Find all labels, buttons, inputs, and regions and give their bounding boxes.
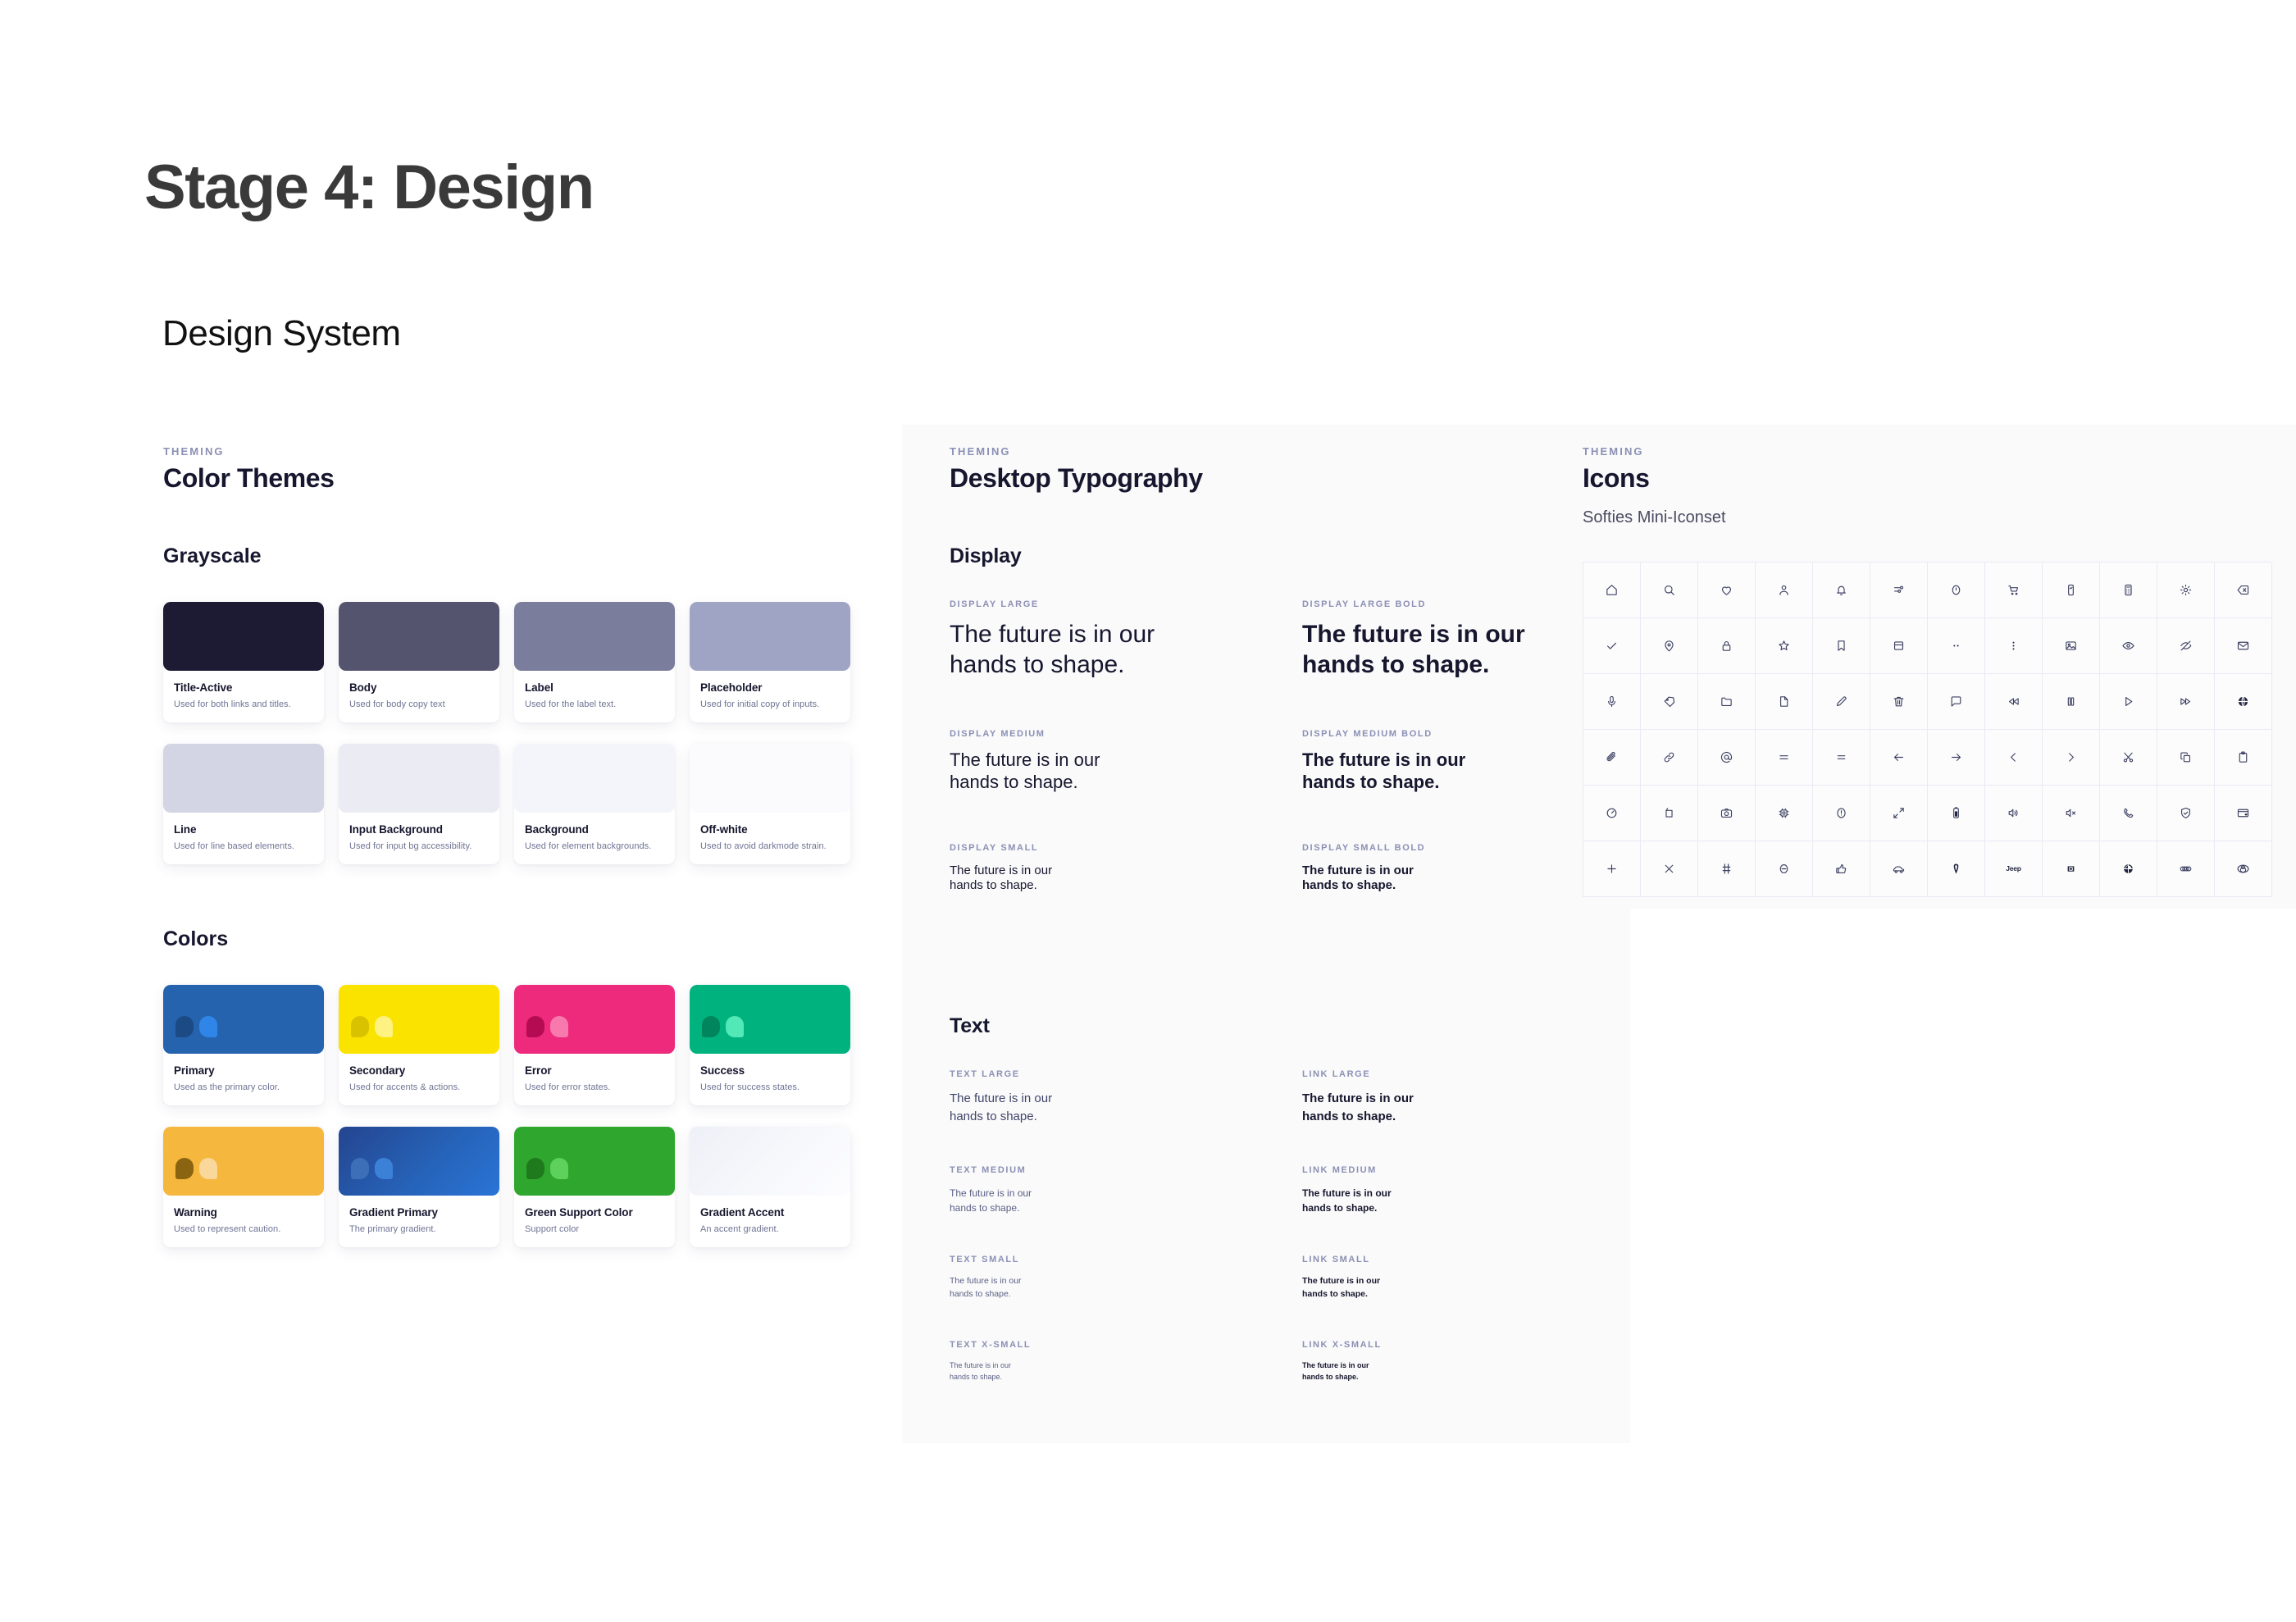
minus-circle-icon[interactable]	[1756, 841, 1813, 897]
chip-icon[interactable]	[1756, 786, 1813, 841]
clipboard-icon[interactable]	[2215, 730, 2272, 786]
swatch-description: Used for initial copy of inputs.	[700, 699, 840, 709]
color-theme-groups: GrayscaleTitle-ActiveUsed for both links…	[163, 544, 877, 1247]
fast-forward-icon[interactable]	[2157, 674, 2215, 730]
typography-spec-label: DISPLAY SMALL	[950, 843, 1302, 853]
bmw-logo-icon[interactable]	[2100, 841, 2157, 897]
color-swatch-card[interactable]: Gradient PrimaryThe primary gradient.	[339, 1127, 499, 1247]
swatch-name: Gradient Accent	[700, 1206, 840, 1219]
swatch-description: Used for both links and titles.	[174, 699, 313, 709]
color-group-label: Grayscale	[163, 544, 877, 568]
color-swatch-card[interactable]: PlaceholderUsed for initial copy of inpu…	[690, 602, 850, 722]
swatch-description: Used for element backgrounds.	[525, 841, 664, 851]
swatch-decoration	[526, 1016, 568, 1037]
color-swatch-chip	[339, 602, 499, 671]
drawer-icon[interactable]	[1870, 618, 1928, 674]
chat-icon[interactable]	[1928, 674, 1985, 730]
swatch-name: Placeholder	[700, 681, 840, 694]
pencil-icon[interactable]	[1813, 674, 1870, 730]
typography-sample-text: The future is in our hands to shape.	[950, 749, 1302, 794]
at-sign-icon[interactable]	[1698, 730, 1756, 786]
thumbs-up-icon[interactable]	[1813, 841, 1870, 897]
color-swatch-chip	[163, 1127, 324, 1196]
typography-specimen: DISPLAY MEDIUMThe future is in our hands…	[950, 729, 1302, 794]
typography-group-heading: Text	[950, 1014, 1606, 1038]
color-swatch-chip	[339, 985, 499, 1054]
color-swatch-chip	[690, 602, 850, 671]
icons-eyebrow: THEMING	[1583, 445, 2296, 458]
swatch-decoration	[351, 1158, 393, 1179]
calculator-icon[interactable]	[2100, 563, 2157, 618]
swatch-description: Used to avoid darkmode strain.	[700, 841, 840, 851]
typography-spec-label: TEXT LARGE	[950, 1069, 1302, 1079]
swatch-meta: WarningUsed to represent caution.	[163, 1196, 324, 1247]
menu-icon[interactable]	[1756, 730, 1813, 786]
swatch-name: Error	[525, 1064, 664, 1077]
typography-sample-text: The future is in our hands to shape.	[950, 1360, 1302, 1383]
swatch-meta: Input BackgroundUsed for input bg access…	[339, 813, 499, 864]
page-title: Stage 4: Design	[144, 152, 594, 223]
color-themes-eyebrow: THEMING	[163, 445, 877, 458]
card-icon[interactable]	[2215, 786, 2272, 841]
phone-device-icon[interactable]	[2043, 563, 2100, 618]
swatch-decoration	[351, 1016, 393, 1037]
lock-icon[interactable]	[1698, 618, 1756, 674]
swatch-name: Warning	[174, 1206, 313, 1219]
close-icon[interactable]	[1641, 841, 1698, 897]
battery-icon[interactable]	[1928, 786, 1985, 841]
typography-group-heading: Display	[950, 544, 1606, 568]
swatch-meta: SecondaryUsed for accents & actions.	[339, 1054, 499, 1105]
color-themes-section: THEMING Color Themes GrayscaleTitle-Acti…	[163, 445, 877, 1247]
play-icon[interactable]	[2100, 674, 2157, 730]
swatch-description: Used for success states.	[700, 1082, 840, 1092]
backspace-icon[interactable]	[2215, 563, 2272, 618]
eye-off-icon[interactable]	[2157, 618, 2215, 674]
typography-spec-label: LINK X-SMALL	[1302, 1340, 1606, 1350]
color-swatch-card[interactable]: LabelUsed for the label text.	[514, 602, 675, 722]
paperclip-icon[interactable]	[1583, 730, 1641, 786]
folder-icon[interactable]	[1698, 674, 1756, 730]
color-swatch-chip	[514, 602, 675, 671]
swatch-name: Line	[174, 823, 313, 836]
bell-icon[interactable]	[1813, 563, 1870, 618]
typography-specimen: LINK SMALLThe future is in our hands to …	[1302, 1255, 1606, 1301]
user-icon[interactable]	[1756, 563, 1813, 618]
typography-sample-text: The future is in our hands to shape.	[950, 1090, 1302, 1126]
swatch-meta: LabelUsed for the label text.	[514, 671, 675, 722]
cart-icon[interactable]	[1985, 563, 2043, 618]
color-swatch-card[interactable]: Gradient AccentAn accent gradient.	[690, 1127, 850, 1247]
typography-specimen: DISPLAY MEDIUM BOLDThe future is in our …	[1302, 729, 1606, 794]
mic-icon[interactable]	[1583, 674, 1641, 730]
typography-spec-label: DISPLAY LARGE	[950, 599, 1302, 609]
swatch-blob-dark	[526, 1158, 544, 1179]
swatch-meta: LineUsed for line based elements.	[163, 813, 324, 864]
typography-specimen: TEXT LARGEThe future is in our hands to …	[950, 1069, 1302, 1126]
camera-icon[interactable]	[1698, 786, 1756, 841]
color-swatch-grid: PrimaryUsed as the primary color.Seconda…	[163, 985, 877, 1247]
color-themes-heading: Color Themes	[163, 463, 877, 494]
alert-circle-icon[interactable]	[1813, 786, 1870, 841]
icons-heading: Icons	[1583, 463, 2296, 494]
swatch-blob-light	[550, 1016, 568, 1037]
volume-icon[interactable]	[1985, 786, 2043, 841]
typography-specimen-grid: DISPLAY LARGEThe future is in our hands …	[950, 599, 1606, 942]
color-swatch-card[interactable]: Title-ActiveUsed for both links and titl…	[163, 602, 324, 722]
swatch-name: Background	[525, 823, 664, 836]
swatch-meta: PlaceholderUsed for initial copy of inpu…	[690, 671, 850, 722]
swatch-description: An accent gradient.	[700, 1224, 840, 1234]
typography-specimen: DISPLAY LARGE BOLDThe future is in our h…	[1302, 599, 1606, 680]
honda-logo-icon[interactable]	[2043, 841, 2100, 897]
tag-icon[interactable]	[1641, 674, 1698, 730]
typography-spec-label: DISPLAY MEDIUM BOLD	[1302, 729, 1606, 739]
pause-icon[interactable]	[2043, 674, 2100, 730]
swatch-blob-dark	[175, 1016, 194, 1037]
globe-icon[interactable]	[2215, 674, 2272, 730]
color-swatch-chip	[163, 744, 324, 813]
maserati-logo-icon[interactable]	[1928, 841, 1985, 897]
more-vertical-icon[interactable]	[1985, 618, 2043, 674]
swatch-meta: ErrorUsed for error states.	[514, 1054, 675, 1105]
copy-icon[interactable]	[2157, 730, 2215, 786]
rewind-icon[interactable]	[1985, 674, 2043, 730]
color-swatch-card[interactable]: SuccessUsed for success states.	[690, 985, 850, 1105]
bookmark-icon[interactable]	[1813, 618, 1870, 674]
typography-spec-label: DISPLAY MEDIUM	[950, 729, 1302, 739]
swatch-description: Used for line based elements.	[174, 841, 313, 851]
swatch-meta: Green Support ColorSupport color	[514, 1196, 675, 1247]
swatch-description: Used for the label text.	[525, 699, 664, 709]
icon-grid: Jeep	[1583, 562, 2271, 897]
color-swatch-card[interactable]: Green Support ColorSupport color	[514, 1127, 675, 1247]
swatch-meta: Off-whiteUsed to avoid darkmode strain.	[690, 813, 850, 864]
jeep-wordmark: Jeep	[2006, 865, 2021, 873]
typography-sample-text: The future is in our hands to shape.	[1302, 1090, 1606, 1126]
expand-icon[interactable]	[1870, 786, 1928, 841]
link-icon[interactable]	[1641, 730, 1698, 786]
swatch-meta: Gradient AccentAn accent gradient.	[690, 1196, 850, 1247]
swatch-name: Input Background	[349, 823, 489, 836]
color-swatch-chip	[339, 744, 499, 813]
chevron-right-icon[interactable]	[2043, 730, 2100, 786]
phone-call-icon[interactable]	[2100, 786, 2157, 841]
swatch-blob-dark	[351, 1016, 369, 1037]
typography-specimen: DISPLAY SMALL BOLDThe future is in our h…	[1302, 843, 1606, 894]
typography-eyebrow: THEMING	[950, 445, 1606, 458]
swatch-meta: BackgroundUsed for element backgrounds.	[514, 813, 675, 864]
typography-sample-text: The future is in our hands to shape.	[950, 620, 1302, 680]
swatch-description: Used to represent caution.	[174, 1224, 313, 1234]
list-icon[interactable]	[1813, 730, 1870, 786]
more-horizontal-icon[interactable]	[1928, 618, 1985, 674]
typography-specimen: LINK X-SMALLThe future is in our hands t…	[1302, 1340, 1606, 1383]
color-swatch-chip	[163, 602, 324, 671]
search-icon[interactable]	[1641, 563, 1698, 618]
gear-icon[interactable]	[2157, 563, 2215, 618]
swatch-description: Support color	[525, 1224, 664, 1234]
color-swatch-chip	[339, 1127, 499, 1196]
audi-logo-icon[interactable]	[2157, 841, 2215, 897]
swatch-name: Green Support Color	[525, 1206, 664, 1219]
swatch-decoration	[526, 1158, 568, 1179]
gauge-icon[interactable]	[1583, 786, 1641, 841]
color-swatch-chip	[514, 985, 675, 1054]
mail-icon[interactable]	[2215, 618, 2272, 674]
typography-sample-text: The future is in our hands to shape.	[1302, 749, 1606, 794]
color-swatch-chip	[514, 1127, 675, 1196]
chevron-left-icon[interactable]	[1985, 730, 2043, 786]
swatch-description: Used for accents & actions.	[349, 1082, 489, 1092]
color-swatch-card[interactable]: ErrorUsed for error states.	[514, 985, 675, 1105]
swatch-blob-dark	[175, 1158, 194, 1179]
typography-spec-label: LINK SMALL	[1302, 1255, 1606, 1264]
shuffle-icon[interactable]	[1698, 841, 1756, 897]
color-swatch-card[interactable]: WarningUsed to represent caution.	[163, 1127, 324, 1247]
swatch-name: Label	[525, 681, 664, 694]
color-swatch-chip	[690, 744, 850, 813]
scissors-icon[interactable]	[2100, 730, 2157, 786]
check-icon[interactable]	[1583, 618, 1641, 674]
swatch-name: Secondary	[349, 1064, 489, 1077]
color-swatch-card[interactable]: BackgroundUsed for element backgrounds.	[514, 744, 675, 864]
color-swatch-chip	[690, 1127, 850, 1196]
swatch-blob-light	[375, 1016, 393, 1037]
typography-sample-text: The future is in our hands to shape.	[1302, 1275, 1606, 1301]
swatch-name: Success	[700, 1064, 840, 1077]
bookmark-tag-icon[interactable]	[1641, 786, 1698, 841]
trash-icon[interactable]	[1870, 674, 1928, 730]
shield-check-icon[interactable]	[2157, 786, 2215, 841]
swatch-blob-dark	[526, 1016, 544, 1037]
typography-heading: Desktop Typography	[950, 463, 1606, 494]
swatch-decoration	[175, 1016, 217, 1037]
typography-specimen: TEXT MEDIUMThe future is in our hands to…	[950, 1165, 1302, 1215]
swatch-name: Off-white	[700, 823, 840, 836]
color-swatch-chip	[514, 744, 675, 813]
typography-specimen: LINK LARGEThe future is in our hands to …	[1302, 1069, 1606, 1126]
typography-spec-label: TEXT X-SMALL	[950, 1340, 1302, 1350]
filter-icon[interactable]	[1870, 563, 1928, 618]
clock-icon[interactable]	[1928, 563, 1985, 618]
volume-mute-icon[interactable]	[2043, 786, 2100, 841]
color-swatch-card[interactable]: PrimaryUsed as the primary color.	[163, 985, 324, 1105]
typography-sample-text: The future is in our hands to shape.	[1302, 620, 1606, 680]
swatch-meta: PrimaryUsed as the primary color.	[163, 1054, 324, 1105]
swatch-blob-light	[550, 1158, 568, 1179]
typography-specimen: DISPLAY SMALLThe future is in our hands …	[950, 843, 1302, 894]
typography-spec-label: LINK LARGE	[1302, 1069, 1606, 1079]
swatch-name: Primary	[174, 1064, 313, 1077]
typography-groups: DisplayDISPLAY LARGEThe future is in our…	[950, 544, 1606, 1422]
color-swatch-grid: Title-ActiveUsed for both links and titl…	[163, 602, 877, 864]
typography-section: THEMING Desktop Typography DisplayDISPLA…	[950, 445, 1606, 1422]
typography-sample-text: The future is in our hands to shape.	[1302, 863, 1606, 894]
toyota-logo-icon[interactable]	[2215, 841, 2272, 897]
color-group-label: Colors	[163, 927, 877, 951]
jeep-logo-icon[interactable]: Jeep	[1985, 841, 2043, 897]
typography-sample-text: The future is in our hands to shape.	[950, 1275, 1302, 1301]
swatch-meta: SuccessUsed for success states.	[690, 1054, 850, 1105]
typography-spec-label: TEXT MEDIUM	[950, 1165, 1302, 1175]
page-subtitle: Design System	[162, 313, 401, 354]
typography-specimen: DISPLAY LARGEThe future is in our hands …	[950, 599, 1302, 680]
plus-icon[interactable]	[1583, 841, 1641, 897]
swatch-blob-dark	[702, 1016, 720, 1037]
design-system-page: Stage 4: Design Design System THEMING Co…	[0, 0, 2296, 1622]
color-swatch-card[interactable]: LineUsed for line based elements.	[163, 744, 324, 864]
typography-sample-text: The future is in our hands to shape.	[1302, 1186, 1606, 1215]
color-swatch-card[interactable]: SecondaryUsed for accents & actions.	[339, 985, 499, 1105]
swatch-description: The primary gradient.	[349, 1224, 489, 1234]
car-icon[interactable]	[1870, 841, 1928, 897]
swatch-description: Used for error states.	[525, 1082, 664, 1092]
file-icon[interactable]	[1756, 674, 1813, 730]
icons-subtitle: Softies Mini-Iconset	[1583, 508, 2296, 527]
swatch-description: Used for body copy text	[349, 699, 489, 709]
typography-specimen-grid: TEXT LARGEThe future is in our hands to …	[950, 1069, 1606, 1422]
typography-specimen: TEXT X-SMALLThe future is in our hands t…	[950, 1340, 1302, 1383]
swatch-description: Used for input bg accessibility.	[349, 841, 489, 851]
swatch-meta: Title-ActiveUsed for both links and titl…	[163, 671, 324, 722]
swatch-decoration	[175, 1158, 217, 1179]
typography-spec-label: DISPLAY LARGE BOLD	[1302, 599, 1606, 609]
color-swatch-card[interactable]: BodyUsed for body copy text	[339, 602, 499, 722]
heart-icon[interactable]	[1698, 563, 1756, 618]
typography-spec-label: LINK MEDIUM	[1302, 1165, 1606, 1175]
swatch-blob-light	[726, 1016, 744, 1037]
swatch-name: Body	[349, 681, 489, 694]
swatch-decoration	[702, 1016, 744, 1037]
eye-icon[interactable]	[2100, 618, 2157, 674]
swatch-blob-light	[375, 1158, 393, 1179]
typography-sample-text: The future is in our hands to shape.	[950, 863, 1302, 894]
typography-specimen: LINK MEDIUMThe future is in our hands to…	[1302, 1165, 1606, 1215]
swatch-name: Gradient Primary	[349, 1206, 489, 1219]
swatch-blob-light	[199, 1016, 217, 1037]
arrow-left-icon[interactable]	[1870, 730, 1928, 786]
color-swatch-card[interactable]: Off-whiteUsed to avoid darkmode strain.	[690, 744, 850, 864]
swatch-meta: Gradient PrimaryThe primary gradient.	[339, 1196, 499, 1247]
typography-spec-label: DISPLAY SMALL BOLD	[1302, 843, 1606, 853]
typography-sample-text: The future is in our hands to shape.	[1302, 1360, 1606, 1383]
arrow-right-icon[interactable]	[1928, 730, 1985, 786]
home-icon[interactable]	[1583, 563, 1641, 618]
typography-specimen: TEXT SMALLThe future is in our hands to …	[950, 1255, 1302, 1301]
color-swatch-chip	[163, 985, 324, 1054]
swatch-meta: BodyUsed for body copy text	[339, 671, 499, 722]
swatch-description: Used as the primary color.	[174, 1082, 313, 1092]
swatch-blob-light	[199, 1158, 217, 1179]
image-icon[interactable]	[2043, 618, 2100, 674]
map-pin-icon[interactable]	[1641, 618, 1698, 674]
icons-section: THEMING Icons Softies Mini-Iconset Jeep	[1583, 445, 2296, 897]
typography-sample-text: The future is in our hands to shape.	[950, 1186, 1302, 1215]
color-swatch-card[interactable]: Input BackgroundUsed for input bg access…	[339, 744, 499, 864]
star-icon[interactable]	[1756, 618, 1813, 674]
typography-spec-label: TEXT SMALL	[950, 1255, 1302, 1264]
swatch-blob-dark	[351, 1158, 369, 1179]
swatch-name: Title-Active	[174, 681, 313, 694]
color-swatch-chip	[690, 985, 850, 1054]
